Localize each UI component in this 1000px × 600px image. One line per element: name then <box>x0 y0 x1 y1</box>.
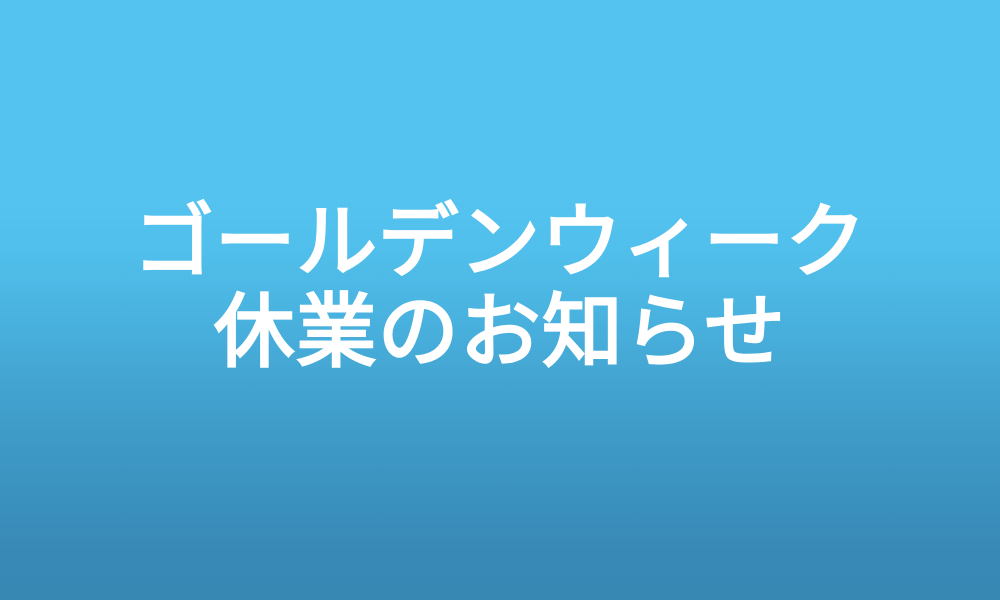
headline-block: ゴールデンウィーク 休業のお知らせ <box>0 198 1000 378</box>
headline-line-1: ゴールデンウィーク <box>0 198 1000 288</box>
headline-line-2: 休業のお知らせ <box>0 288 1000 378</box>
announcement-banner: ゴールデンウィーク 休業のお知らせ <box>0 0 1000 600</box>
